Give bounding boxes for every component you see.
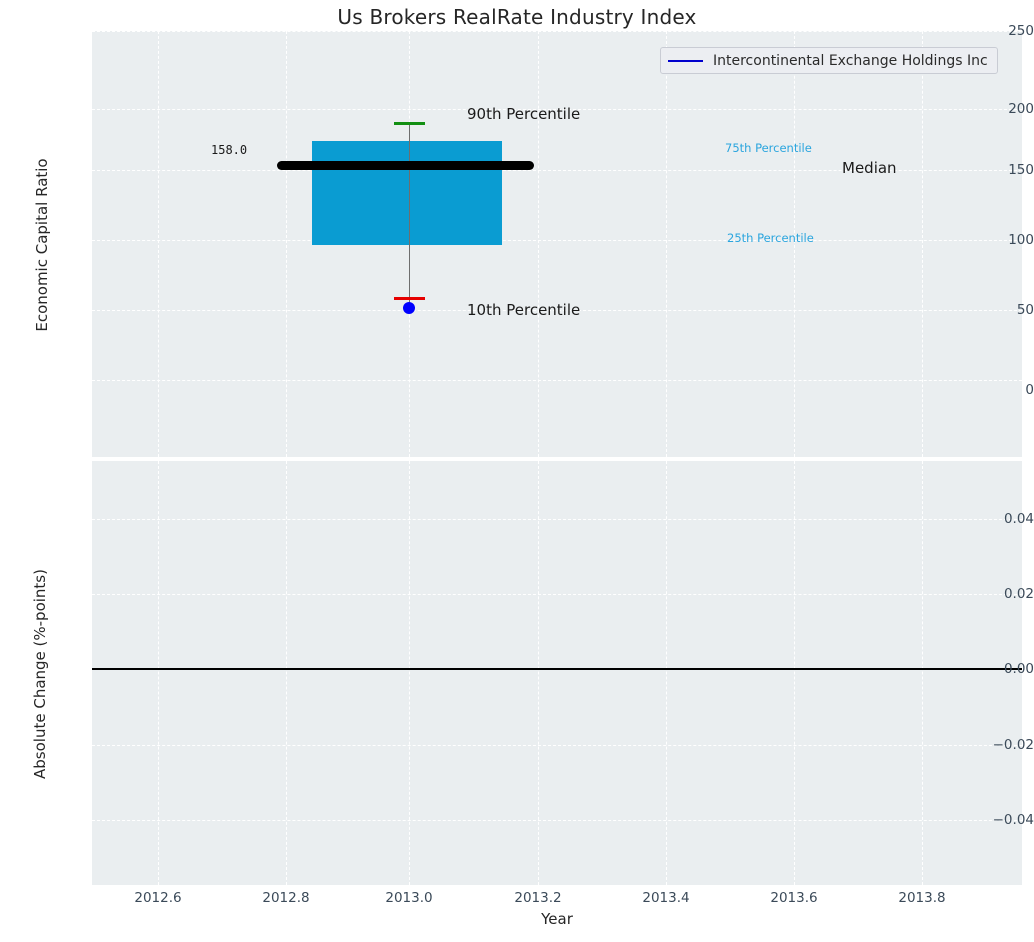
- x-axis-tick-label: 2012.8: [262, 890, 309, 906]
- y-axis-tick-label: 100: [950, 232, 1034, 248]
- gridline-horizontal: [92, 594, 1022, 595]
- annotation-90th-percentile: 90th Percentile: [467, 105, 580, 123]
- y-axis-tick-label: −0.04: [950, 812, 1034, 828]
- chart-title: Us Brokers RealRate Industry Index: [0, 5, 1034, 29]
- gridline-vertical: [409, 461, 410, 885]
- gridline-vertical: [286, 461, 287, 885]
- gridline-vertical: [538, 461, 539, 885]
- legend-entry-label: Intercontinental Exchange Holdings Inc: [713, 53, 988, 69]
- x-axis-tick-label: 2013.8: [898, 890, 945, 906]
- y-axis-label-top: Economic Capital Ratio: [33, 80, 51, 410]
- y-axis-tick-label: 150: [950, 162, 1034, 178]
- x-axis-tick-label: 2013.4: [642, 890, 689, 906]
- annotation-75th-percentile: 75th Percentile: [725, 141, 812, 155]
- gridline-horizontal: [92, 745, 1022, 746]
- company-data-point[interactable]: [403, 302, 415, 314]
- y-axis-tick-label: 200: [950, 101, 1034, 117]
- chart-legend[interactable]: Intercontinental Exchange Holdings Inc: [660, 47, 998, 74]
- gridline-horizontal: [92, 380, 1022, 381]
- gridline-horizontal: [92, 240, 1022, 241]
- y-axis-label-bottom: Absolute Change (%-points): [31, 484, 49, 864]
- zero-reference-line: [92, 668, 1022, 670]
- gridline-vertical: [538, 31, 539, 457]
- gridline-vertical: [666, 461, 667, 885]
- x-axis-tick-label: 2012.6: [134, 890, 181, 906]
- annotation-median-value: 158.0: [211, 143, 247, 157]
- y-axis-tick-label: 0.02: [950, 586, 1034, 602]
- x-axis-label: Year: [92, 910, 1022, 928]
- gridline-horizontal: [92, 31, 1022, 32]
- legend-line-swatch: [668, 60, 703, 62]
- annotation-25th-percentile: 25th Percentile: [727, 231, 814, 245]
- y-axis-tick-label: 0: [950, 382, 1034, 398]
- top-subplot-panel: 75th Percentile 25th Percentile: [92, 31, 1022, 457]
- gridline-vertical: [794, 461, 795, 885]
- gridline-vertical: [158, 31, 159, 457]
- y-axis-tick-label: 0.00: [950, 661, 1034, 677]
- gridline-vertical: [666, 31, 667, 457]
- box-plot-whisker-line: [409, 123, 410, 306]
- x-axis-tick-label: 2013.2: [514, 890, 561, 906]
- y-axis-tick-label: −0.02: [950, 737, 1034, 753]
- box-plot-interquartile-box: [312, 141, 502, 245]
- gridline-horizontal: [92, 820, 1022, 821]
- gridline-vertical: [158, 461, 159, 885]
- y-axis-tick-label: 50: [950, 302, 1034, 318]
- box-plot-10th-percentile-cap: [394, 297, 425, 300]
- gridline-vertical: [922, 461, 923, 885]
- box-plot-90th-percentile-cap: [394, 122, 425, 125]
- chart-figure: Us Brokers RealRate Industry Index 75th …: [0, 0, 1034, 942]
- bottom-subplot-panel: [92, 461, 1022, 885]
- y-axis-tick-label: 0.04: [950, 511, 1034, 527]
- box-plot-median-line: [277, 161, 534, 170]
- x-axis-tick-label: 2013.0: [385, 890, 432, 906]
- x-axis-tick-label: 2013.6: [770, 890, 817, 906]
- gridline-horizontal: [92, 519, 1022, 520]
- gridline-vertical: [922, 31, 923, 457]
- gridline-vertical: [286, 31, 287, 457]
- y-axis-tick-label: 250: [950, 23, 1034, 39]
- annotation-10th-percentile: 10th Percentile: [467, 301, 580, 319]
- annotation-median: Median: [842, 159, 897, 177]
